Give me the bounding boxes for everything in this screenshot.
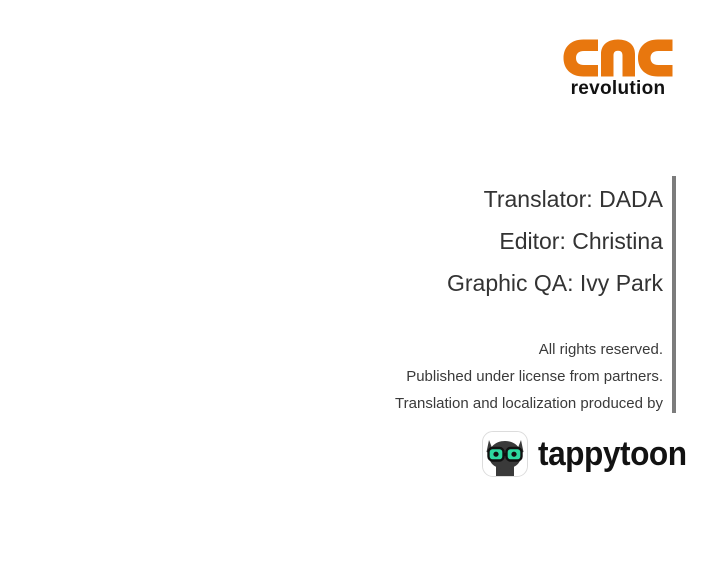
credit-line-editor: Editor: Christina <box>243 220 663 262</box>
credit-line-graphic-qa: Graphic QA: Ivy Park <box>243 262 663 304</box>
license-block: All rights reserved. Published under lic… <box>203 336 663 417</box>
cnc-wordmark-icon <box>563 38 673 78</box>
cnc-revolution-subtitle: revolution <box>563 79 673 99</box>
credit-line-translator: Translator: DADA <box>243 178 663 220</box>
credits-block: Translator: DADA Editor: Christina Graph… <box>243 178 663 304</box>
license-line-published: Published under license from partners. <box>203 363 663 390</box>
tappytoon-wordmark: tappytoon <box>538 437 687 471</box>
credits-page: revolution Translator: DADA Editor: Chri… <box>0 0 720 579</box>
cat-with-glasses-icon <box>482 431 528 477</box>
tappytoon-logo: tappytoon <box>482 430 698 478</box>
license-line-rights: All rights reserved. <box>203 336 663 363</box>
license-line-translation: Translation and localization produced by <box>203 390 663 417</box>
vertical-divider <box>672 176 676 413</box>
cnc-revolution-logo: revolution <box>563 38 673 104</box>
